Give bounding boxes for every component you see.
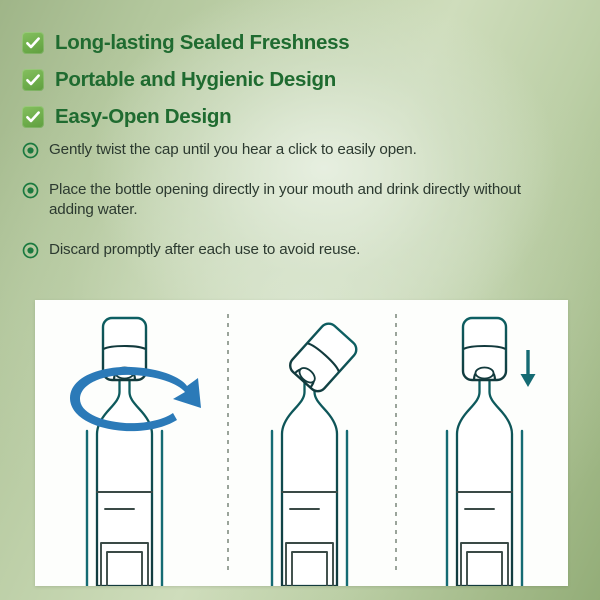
- feature-item: Portable and Hygienic Design: [22, 61, 578, 98]
- panel-replace-cap: [447, 318, 536, 586]
- feature-label: Long-lasting Sealed Freshness: [55, 31, 349, 55]
- instruction-text: Gently twist the cap until you hear a cl…: [49, 140, 417, 160]
- feature-label: Portable and Hygienic Design: [55, 68, 336, 92]
- instruction-text: Place the bottle opening directly in you…: [49, 180, 532, 220]
- check-badge-icon: [22, 32, 44, 54]
- bottle-outline: [457, 372, 512, 586]
- radio-bullet-icon: [22, 182, 39, 199]
- instruction-item: Gently twist the cap until you hear a cl…: [22, 140, 532, 160]
- panel-remove-cap: [272, 320, 360, 586]
- panel-twist-cap: [70, 318, 205, 586]
- instruction-illustration-panel: [35, 300, 568, 586]
- feature-list: Long-lasting Sealed Freshness Portable a…: [22, 24, 578, 135]
- instruction-list: Gently twist the cap until you hear a cl…: [22, 140, 532, 280]
- feature-item: Easy-Open Design: [22, 98, 578, 135]
- bottle-cap: [463, 318, 506, 380]
- check-badge-icon: [22, 106, 44, 128]
- tilted-cap-icon: [287, 320, 360, 395]
- instruction-item: Place the bottle opening directly in you…: [22, 180, 532, 220]
- radio-bullet-icon: [22, 242, 39, 259]
- promo-graphic-root: Long-lasting Sealed Freshness Portable a…: [0, 0, 600, 600]
- instruction-text: Discard promptly after each use to avoid…: [49, 240, 360, 260]
- instruction-item: Discard promptly after each use to avoid…: [22, 240, 532, 260]
- check-badge-icon: [22, 69, 44, 91]
- bottle-steps-diagram: [35, 300, 568, 586]
- down-arrow-icon: [521, 350, 536, 387]
- feature-item: Long-lasting Sealed Freshness: [22, 24, 578, 61]
- radio-bullet-icon: [22, 142, 39, 159]
- feature-label: Easy-Open Design: [55, 105, 231, 129]
